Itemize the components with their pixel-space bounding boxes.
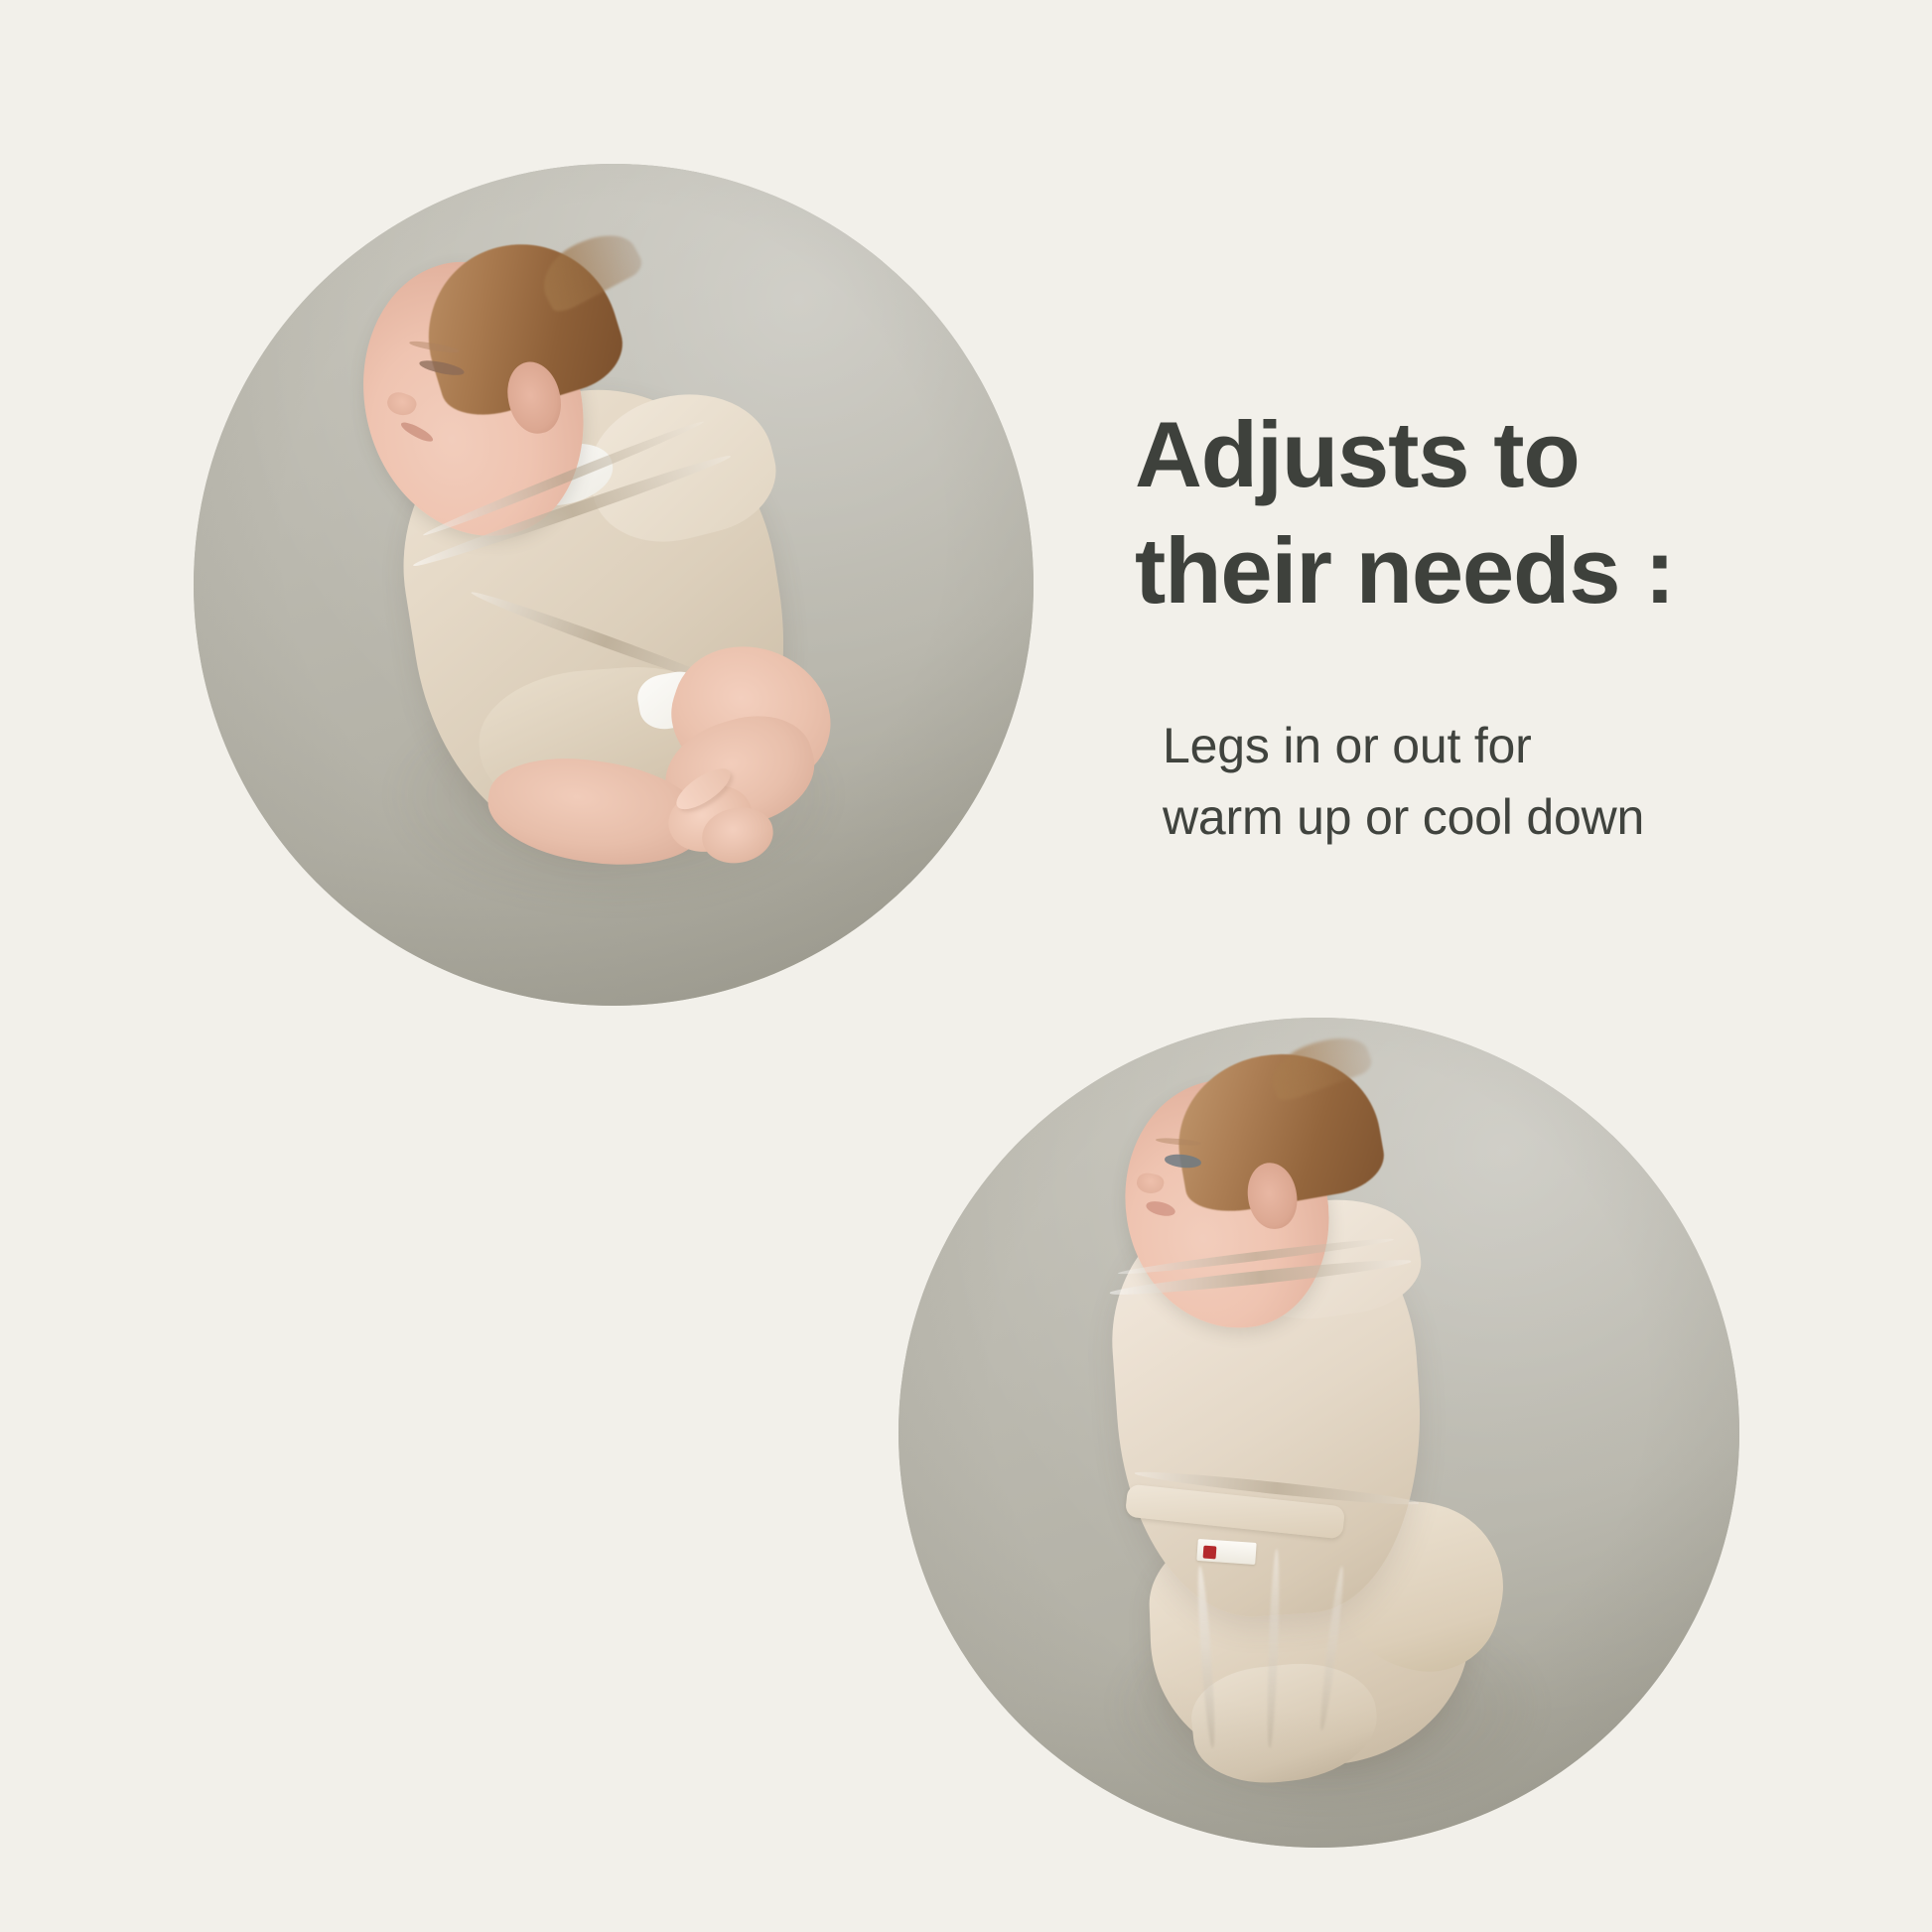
photo-legs-in[interactable]: [898, 1018, 1739, 1848]
copy-block: Adjusts to their needs : Legs in or out …: [1135, 397, 1889, 853]
photo-legs-out[interactable]: [194, 164, 1034, 1006]
headline: Adjusts to their needs :: [1135, 397, 1889, 628]
baby-illustration-legs-out: [194, 164, 1034, 1006]
poster-canvas: Adjusts to their needs : Legs in or out …: [0, 0, 1932, 1932]
brand-tag-logo-icon: [1202, 1545, 1216, 1558]
baby-illustration-legs-in: [898, 1018, 1739, 1848]
subheadline: Legs in or out for warm up or cool down: [1163, 710, 1889, 853]
